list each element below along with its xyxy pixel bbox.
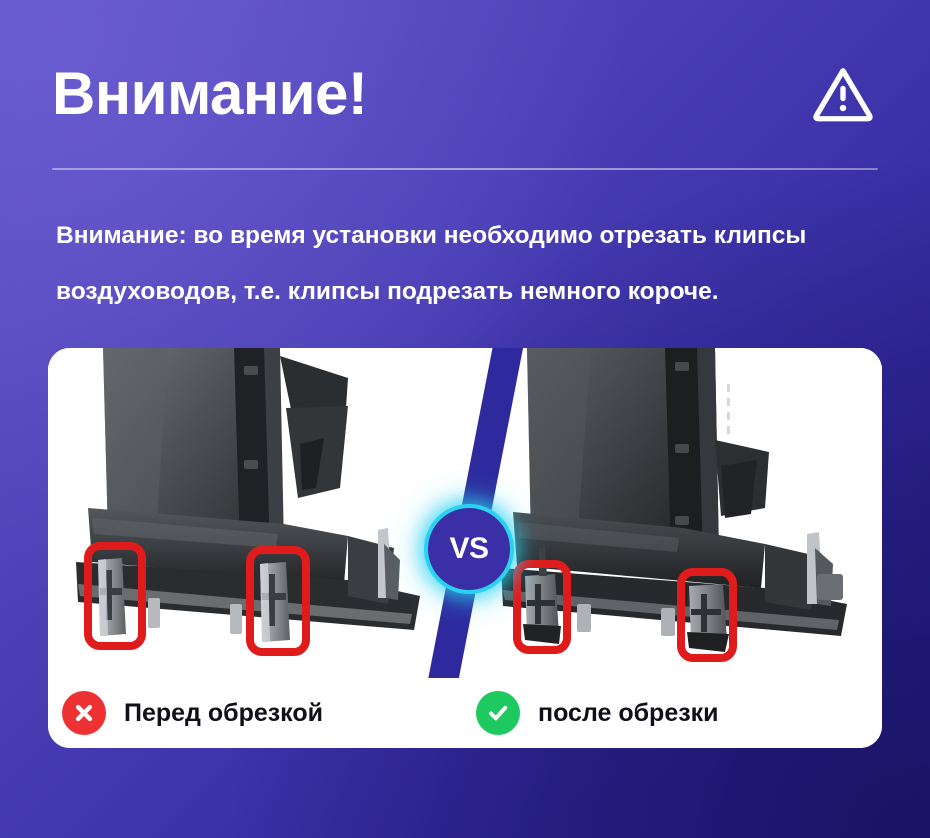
caption-before-text: Перед обрезкой bbox=[124, 699, 323, 728]
photo-before bbox=[48, 348, 465, 678]
air-duct-after-illustration bbox=[465, 348, 882, 678]
warning-text-line-1: Внимание: во время установки необходимо … bbox=[56, 208, 882, 264]
warning-text: Внимание: во время установки необходимо … bbox=[56, 208, 882, 320]
caption-after: после обрезки bbox=[468, 678, 882, 748]
photo-after bbox=[465, 348, 882, 678]
caption-before: Перед обрезкой bbox=[48, 678, 468, 748]
vs-label: VS bbox=[449, 534, 488, 564]
clip-long-right bbox=[260, 562, 290, 642]
vs-badge: VS bbox=[424, 504, 514, 594]
x-circle-icon bbox=[62, 691, 106, 735]
page-title: Внимание! bbox=[52, 64, 367, 124]
air-duct-before-illustration bbox=[48, 348, 465, 678]
caption-after-text: после обрезки bbox=[538, 699, 719, 728]
clip-short-right bbox=[687, 584, 729, 652]
header-divider bbox=[52, 168, 878, 170]
header: Внимание! bbox=[52, 52, 884, 136]
warning-triangle-icon bbox=[810, 61, 876, 127]
clip-long-left bbox=[98, 558, 126, 636]
comparison-card: VS Перед обрезкой после обрезки bbox=[48, 348, 882, 748]
warning-text-line-2: воздуховодов, т.е. клипсы подрезать немн… bbox=[56, 264, 882, 320]
check-circle-icon bbox=[476, 691, 520, 735]
warning-infographic-page: Внимание! Внимание: во время установки н… bbox=[0, 0, 930, 838]
caption-row: Перед обрезкой после обрезки bbox=[48, 678, 882, 748]
